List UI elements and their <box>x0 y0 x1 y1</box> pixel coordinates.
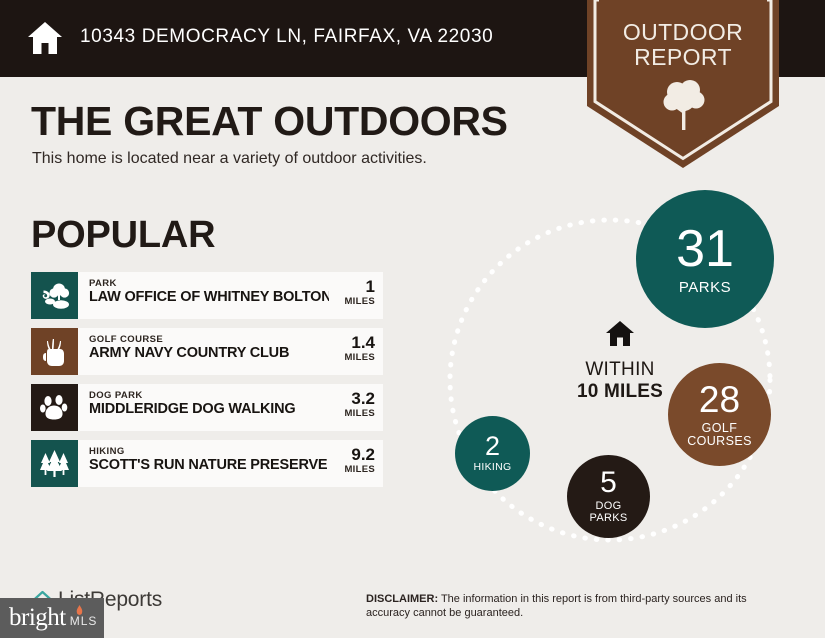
diagram-center-label: WITHIN 10 MILES <box>530 320 710 403</box>
list-item-distance: 9.2 MILES <box>329 440 383 487</box>
list-item[interactable]: DOG PARK MIDDLERIDGE DOG WALKING 3.2 MIL… <box>31 384 383 431</box>
bubble-parks-value: 31 <box>676 223 734 275</box>
list-item-name: ARMY NAVY COUNTRY CLUB <box>89 345 329 362</box>
list-item-icon-box <box>31 328 78 375</box>
list-item-text: DOG PARK MIDDLERIDGE DOG WALKING <box>78 384 329 431</box>
bright-mls-name: bright <box>9 605 66 631</box>
flame-icon <box>76 605 83 617</box>
outdoor-report-page: 10343 DEMOCRACY LN, FAIRFAX, VA 22030 OU… <box>0 0 825 638</box>
list-item-category: PARK <box>89 278 329 289</box>
list-item-distance-unit: MILES <box>329 408 375 419</box>
list-item-text: GOLF COURSE ARMY NAVY COUNTRY CLUB <box>78 328 329 375</box>
bubble-golf-label-line2: COURSES <box>687 435 752 448</box>
list-item-distance-value: 9.2 <box>329 445 375 464</box>
list-item[interactable]: PARK LAW OFFICE OF WHITNEY BOLTON 1 MILE… <box>31 272 383 319</box>
bubble-parks[interactable]: 31 PARKS <box>636 190 774 328</box>
bubble-parks-label: PARKS <box>679 280 731 296</box>
bubble-dog-parks[interactable]: 5 DOG PARKS <box>567 455 650 538</box>
list-item-distance-unit: MILES <box>329 464 375 475</box>
bubble-dog-label: DOG PARKS <box>590 501 628 524</box>
list-item[interactable]: GOLF COURSE ARMY NAVY COUNTRY CLUB 1.4 M… <box>31 328 383 375</box>
list-item-text: HIKING SCOTT'S RUN NATURE PRESERVE <box>78 440 329 487</box>
list-item-name: MIDDLERIDGE DOG WALKING <box>89 401 329 418</box>
bubble-hiking[interactable]: 2 HIKING <box>455 416 530 491</box>
bright-mls-watermark: bright MLS <box>0 598 104 638</box>
disclaimer-label: DISCLAIMER: <box>366 593 438 605</box>
bubble-golf-label: GOLF COURSES <box>687 422 752 448</box>
page-title: THE GREAT OUTDOORS <box>31 98 508 145</box>
list-item-name: LAW OFFICE OF WHITNEY BOLTON <box>89 289 329 306</box>
list-item-icon-box <box>31 440 78 487</box>
paw-icon <box>40 393 69 422</box>
list-item-distance-unit: MILES <box>329 296 375 307</box>
list-item-icon-box <box>31 272 78 319</box>
list-item-text: PARK LAW OFFICE OF WHITNEY BOLTON <box>78 272 329 319</box>
amenities-bubble-diagram: 31 PARKS 28 GOLF COURSES 5 DOG PARKS 2 H… <box>420 180 825 555</box>
property-address: 10343 DEMOCRACY LN, FAIRFAX, VA 22030 <box>80 26 493 48</box>
list-item-category: DOG PARK <box>89 390 329 401</box>
popular-list: PARK LAW OFFICE OF WHITNEY BOLTON 1 MILE… <box>31 272 383 496</box>
list-item-category: HIKING <box>89 446 329 457</box>
list-item-distance-value: 3.2 <box>329 389 375 408</box>
list-item-icon-box <box>31 384 78 431</box>
list-item-category: GOLF COURSE <box>89 334 329 345</box>
list-item-name: SCOTT'S RUN NATURE PRESERVE <box>89 457 329 474</box>
disclaimer: DISCLAIMER: The information in this repo… <box>366 592 791 620</box>
list-item[interactable]: HIKING SCOTT'S RUN NATURE PRESERVE 9.2 M… <box>31 440 383 487</box>
diagram-center-line2: 10 MILES <box>530 381 710 403</box>
bubble-hiking-label: HIKING <box>474 462 512 473</box>
list-item-distance: 3.2 MILES <box>329 384 383 431</box>
tree-icon <box>663 78 705 130</box>
golf-bag-icon <box>41 337 69 367</box>
page-subtitle: This home is located near a variety of o… <box>32 150 427 168</box>
bubble-hiking-value: 2 <box>485 433 500 460</box>
popular-heading: POPULAR <box>31 214 215 257</box>
list-item-distance-unit: MILES <box>329 352 375 363</box>
list-item-distance: 1.4 MILES <box>329 328 383 375</box>
list-item-distance: 1 MILES <box>329 272 383 319</box>
bubble-dog-value: 5 <box>600 468 617 498</box>
list-item-distance-value: 1.4 <box>329 333 375 352</box>
diagram-center-line1: WITHIN <box>530 359 710 381</box>
pine-trees-icon <box>39 450 70 477</box>
bubble-dog-label-line2: PARKS <box>590 513 628 525</box>
home-icon <box>27 21 63 55</box>
home-icon <box>605 320 635 347</box>
list-item-distance-value: 1 <box>329 277 375 296</box>
bright-mls-suffix: MLS <box>70 614 98 628</box>
outdoor-report-badge: OUTDOOR REPORT <box>587 0 779 168</box>
park-icon <box>40 282 70 310</box>
